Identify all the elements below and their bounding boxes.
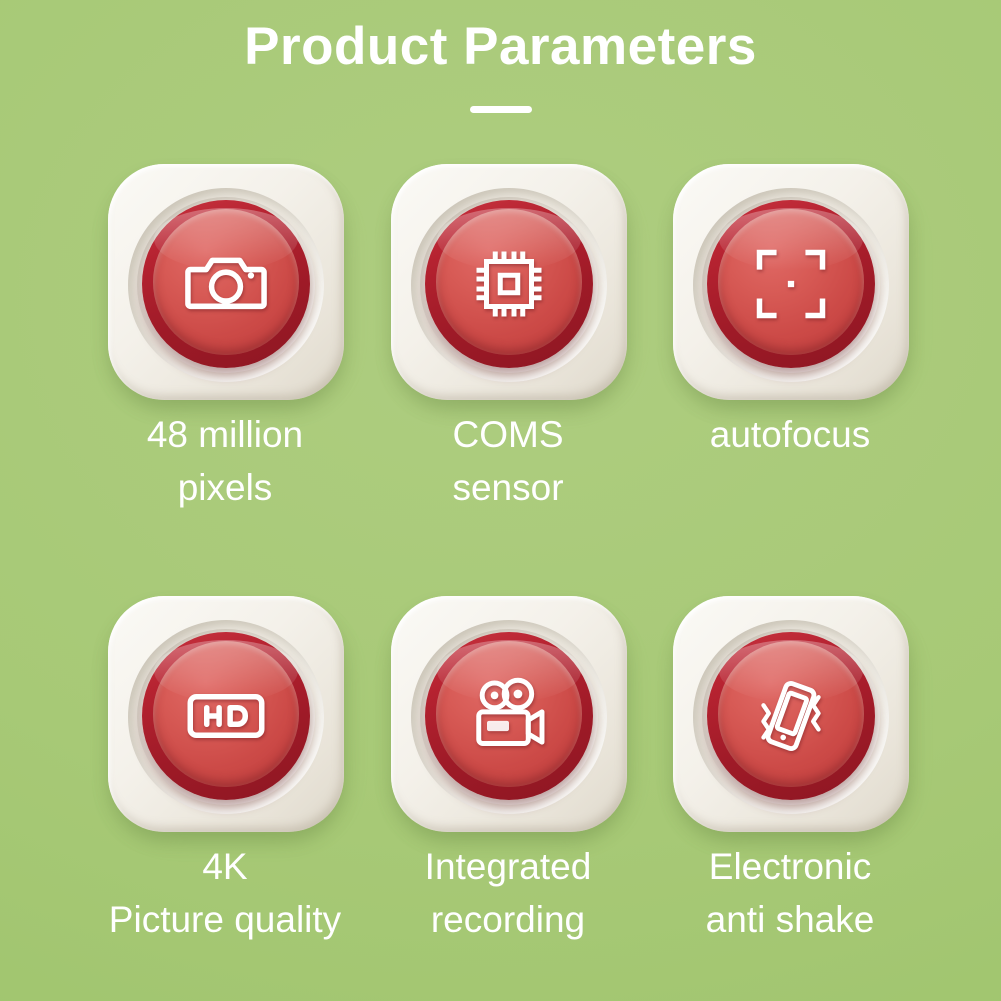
feature-caption: autofocus bbox=[645, 408, 935, 461]
feature-item-coms-sensor[interactable]: COMS sensor bbox=[363, 150, 653, 575]
cpu-chip-icon bbox=[425, 200, 593, 368]
feature-caption: 48 million pixels bbox=[80, 408, 370, 515]
feature-caption: Integrated recording bbox=[363, 840, 653, 947]
feature-caption: COMS sensor bbox=[363, 408, 653, 515]
title-underline-rule bbox=[470, 106, 532, 113]
feature-button-tile[interactable] bbox=[391, 164, 627, 400]
page-title: Product Parameters bbox=[0, 0, 1001, 76]
feature-button-tile[interactable] bbox=[108, 596, 344, 832]
poster-header: Product Parameters bbox=[0, 0, 1001, 145]
phone-vibrate-icon bbox=[707, 632, 875, 800]
movie-camera-icon bbox=[425, 632, 593, 800]
camera-icon bbox=[142, 200, 310, 368]
feature-button-tile[interactable] bbox=[108, 164, 344, 400]
feature-item-electronic-anti-shake[interactable]: Electronic anti shake bbox=[645, 582, 935, 1001]
feature-item-autofocus[interactable]: autofocus bbox=[645, 150, 935, 575]
feature-item-integrated-recording[interactable]: Integrated recording bbox=[363, 582, 653, 1001]
feature-grid: 48 million pixels bbox=[0, 150, 1001, 1001]
feature-button-tile[interactable] bbox=[391, 596, 627, 832]
feature-item-48-million-pixels[interactable]: 48 million pixels bbox=[80, 150, 370, 575]
feature-caption: 4K Picture quality bbox=[80, 840, 370, 947]
feature-row-2: 4K Picture quality bbox=[0, 582, 1001, 1001]
autofocus-frame-icon bbox=[707, 200, 875, 368]
product-parameters-poster: Product Parameters bbox=[0, 0, 1001, 1001]
feature-item-4k-picture-quality[interactable]: 4K Picture quality bbox=[80, 582, 370, 1001]
feature-caption: Electronic anti shake bbox=[645, 840, 935, 947]
feature-button-tile[interactable] bbox=[673, 596, 909, 832]
feature-button-tile[interactable] bbox=[673, 164, 909, 400]
hd-badge-icon bbox=[142, 632, 310, 800]
feature-row-1: 48 million pixels bbox=[0, 150, 1001, 575]
